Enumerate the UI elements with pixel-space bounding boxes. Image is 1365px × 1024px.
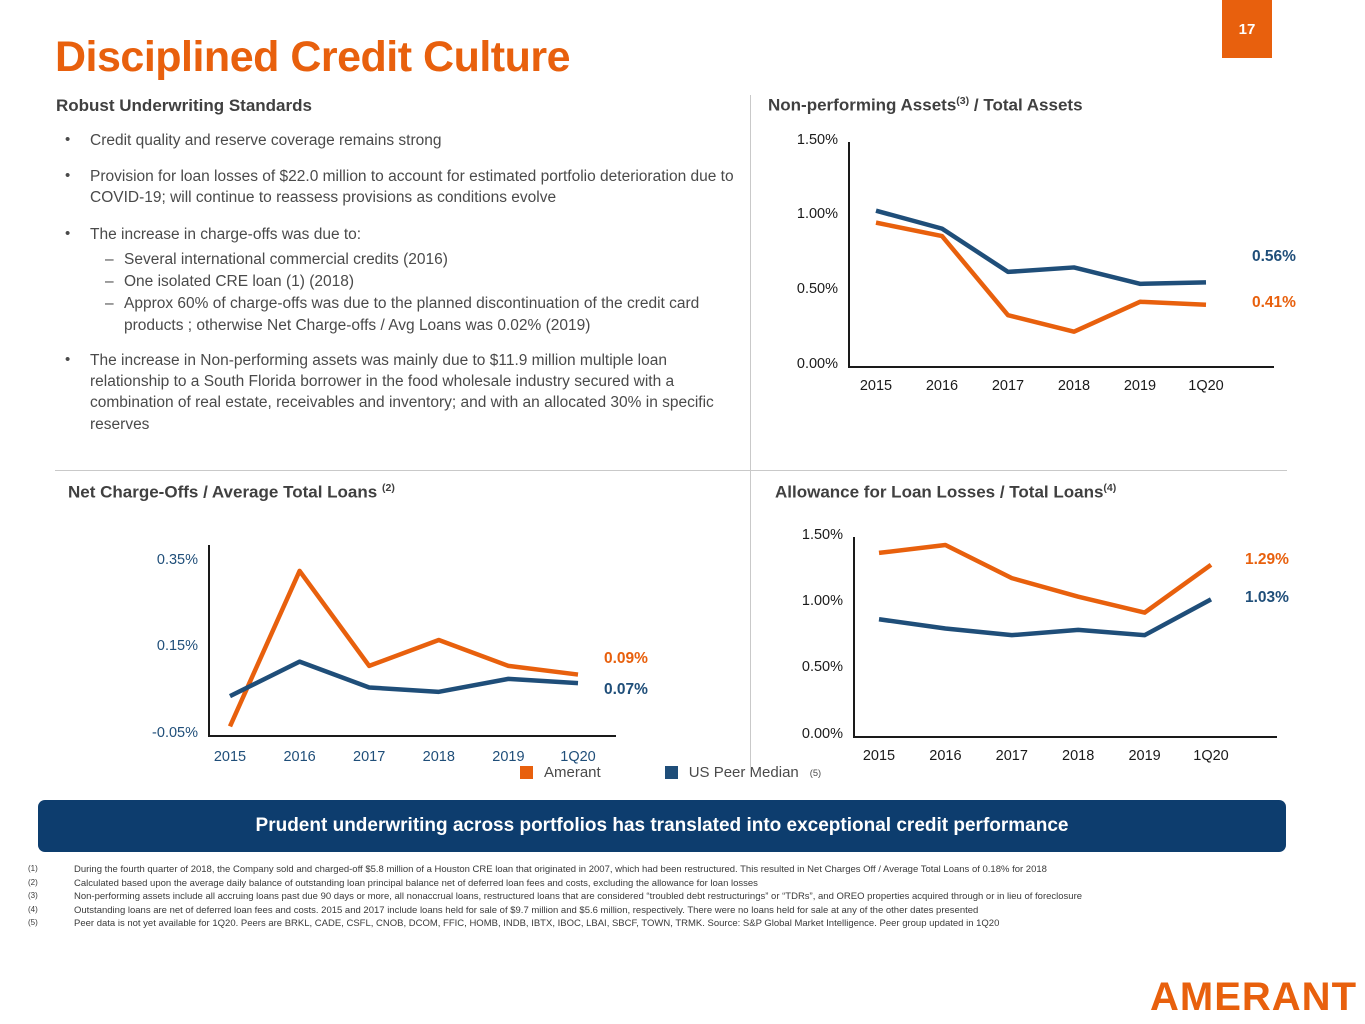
legend-label: Amerant bbox=[544, 764, 601, 781]
footnote-item: (2) Calculated based upon the average da… bbox=[28, 878, 1338, 891]
footnote-text: Peer data is not yet available for 1Q20.… bbox=[74, 918, 1338, 931]
chart-panel-nco: Net Charge-Offs / Average Total Loans (2… bbox=[68, 482, 688, 795]
legend-label: US Peer Median bbox=[689, 764, 799, 781]
footnote-number: (2) bbox=[28, 878, 74, 891]
sub-bullet-text: Approx 60% of charge-offs was due to the… bbox=[124, 293, 746, 335]
page-title: Disciplined Credit Culture bbox=[55, 36, 570, 79]
chart-title-superscript: (3) bbox=[956, 95, 969, 107]
bullet-text: Credit quality and reserve coverage rema… bbox=[90, 130, 746, 151]
chart-title-superscript: (2) bbox=[382, 482, 395, 494]
chart-title-allowance: Allowance for Loan Losses / Total Loans(… bbox=[775, 482, 1315, 503]
series-end-label-us-peer-median: 0.56% bbox=[1252, 248, 1296, 266]
series-end-label-us-peer-median: 0.07% bbox=[604, 681, 648, 699]
footnote-item: (1) During the fourth quarter of 2018, t… bbox=[28, 864, 1338, 877]
series-line-us-peer-median bbox=[879, 599, 1211, 635]
dash-marker: – bbox=[56, 249, 124, 270]
chart-series-layer bbox=[775, 523, 1315, 788]
sub-bullet-item: – Approx 60% of charge-offs was due to t… bbox=[56, 293, 746, 335]
bullet-item: • The increase in charge-offs was due to… bbox=[56, 224, 746, 245]
bullet-marker: • bbox=[56, 350, 90, 435]
vertical-divider bbox=[750, 95, 751, 767]
legend-label-superscript: (5) bbox=[810, 768, 821, 778]
page-number-badge: 17 bbox=[1222, 0, 1272, 58]
series-line-amerant bbox=[876, 222, 1206, 331]
horizontal-divider bbox=[55, 470, 1287, 471]
sub-bullet-list: – Several international commercial credi… bbox=[56, 249, 746, 336]
chart-area-nco: -0.05%0.15%0.35%201520162017201820191Q20… bbox=[68, 525, 688, 795]
footnote-number: (1) bbox=[28, 864, 74, 877]
chart-title-superscript: (4) bbox=[1103, 482, 1116, 494]
bullet-text: The increase in charge-offs was due to: bbox=[90, 224, 746, 245]
footnote-text: Calculated based upon the average daily … bbox=[74, 878, 1338, 891]
footnote-text: Non-performing assets include all accrui… bbox=[74, 891, 1338, 904]
footnote-number: (3) bbox=[28, 891, 74, 904]
chart-title-rest: / Total Assets bbox=[969, 96, 1082, 115]
series-end-label-amerant: 1.29% bbox=[1245, 551, 1289, 569]
sub-bullet-item: – One isolated CRE loan (1) (2018) bbox=[56, 271, 746, 292]
robust-underwriting-section: Robust Underwriting Standards • Credit q… bbox=[56, 96, 746, 450]
bullet-marker: • bbox=[56, 224, 90, 245]
chart-title-main: Non-performing Assets bbox=[768, 96, 956, 115]
chart-title-npa: Non-performing Assets(3) / Total Assets bbox=[768, 95, 1308, 116]
series-end-label-us-peer-median: 1.03% bbox=[1245, 589, 1289, 607]
bullet-item: • Provision for loan losses of $22.0 mil… bbox=[56, 166, 746, 208]
sub-bullet-text: One isolated CRE loan (1) (2018) bbox=[124, 271, 746, 292]
page-number: 17 bbox=[1239, 21, 1256, 38]
series-line-amerant bbox=[879, 545, 1211, 613]
footnote-text: Outstanding loans are net of deferred lo… bbox=[74, 905, 1338, 918]
bullet-marker: • bbox=[56, 166, 90, 208]
sub-bullet-item: – Several international commercial credi… bbox=[56, 249, 746, 270]
legend-item-amerant: Amerant bbox=[520, 764, 601, 781]
chart-panel-allowance: Allowance for Loan Losses / Total Loans(… bbox=[775, 482, 1315, 788]
sub-bullet-text: Several international commercial credits… bbox=[124, 249, 746, 270]
chart-legend: Amerant US Peer Median(5) bbox=[520, 764, 821, 781]
summary-banner-text: Prudent underwriting across portfolios h… bbox=[256, 815, 1069, 837]
chart-series-layer bbox=[68, 525, 688, 795]
series-line-amerant bbox=[230, 571, 578, 726]
dash-marker: – bbox=[56, 271, 124, 292]
amerant-logo: AMERANT bbox=[1150, 975, 1357, 1020]
series-end-label-amerant: 0.09% bbox=[604, 650, 648, 668]
chart-series-layer bbox=[768, 128, 1308, 418]
chart-panel-npa: Non-performing Assets(3) / Total Assets … bbox=[768, 95, 1308, 418]
section-heading: Robust Underwriting Standards bbox=[56, 96, 746, 116]
chart-title-main: Allowance for Loan Losses / Total Loans bbox=[775, 483, 1103, 502]
series-end-label-amerant: 0.41% bbox=[1252, 294, 1296, 312]
chart-area-allowance: 0.00%0.50%1.00%1.50%20152016201720182019… bbox=[775, 523, 1315, 788]
legend-item-us-peer-median: US Peer Median(5) bbox=[665, 764, 821, 781]
series-line-us-peer-median bbox=[876, 210, 1206, 283]
bullet-item: • The increase in Non-performing assets … bbox=[56, 350, 746, 435]
chart-title-main: Net Charge-Offs / Average Total Loans bbox=[68, 483, 377, 502]
legend-swatch-navy bbox=[665, 766, 678, 779]
bullet-text: Provision for loan losses of $22.0 milli… bbox=[90, 166, 746, 208]
footnote-item: (3) Non-performing assets include all ac… bbox=[28, 891, 1338, 904]
footnote-number: (4) bbox=[28, 905, 74, 918]
logo-text: AMERANT bbox=[1150, 975, 1357, 1020]
chart-area-npa: 0.00%0.50%1.00%1.50%20152016201720182019… bbox=[768, 128, 1308, 418]
bullet-item: • Credit quality and reserve coverage re… bbox=[56, 130, 746, 151]
footnote-item: (4) Outstanding loans are net of deferre… bbox=[28, 905, 1338, 918]
dash-marker: – bbox=[56, 293, 124, 335]
chart-title-nco: Net Charge-Offs / Average Total Loans (2… bbox=[68, 482, 688, 503]
legend-swatch-orange bbox=[520, 766, 533, 779]
bullet-marker: • bbox=[56, 130, 90, 151]
footnote-number: (5) bbox=[28, 918, 74, 931]
bullet-text: The increase in Non-performing assets wa… bbox=[90, 350, 746, 435]
footnote-item: (5) Peer data is not yet available for 1… bbox=[28, 918, 1338, 931]
summary-banner: Prudent underwriting across portfolios h… bbox=[38, 800, 1286, 852]
footnotes-list: (1) During the fourth quarter of 2018, t… bbox=[28, 864, 1338, 932]
footnote-text: During the fourth quarter of 2018, the C… bbox=[74, 864, 1338, 877]
